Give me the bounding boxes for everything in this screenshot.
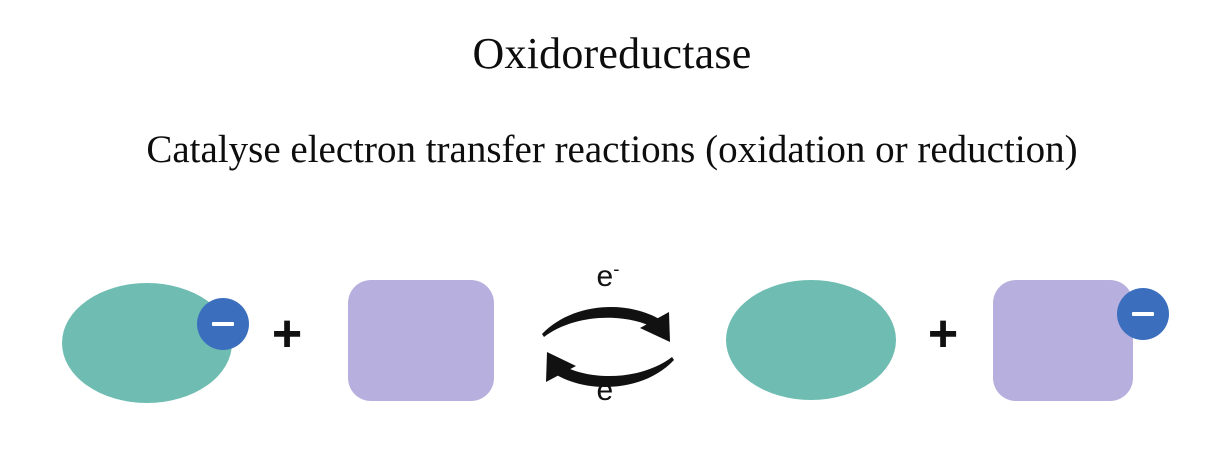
slide-canvas: Oxidoreductase Catalyse electron transfe… (0, 0, 1224, 459)
electron-label-top-charge: - (613, 258, 619, 279)
reaction-diagram: + e- e- + (0, 240, 1224, 430)
electron-label-bottom-base: e (597, 374, 614, 407)
electron-label-top: e- (553, 262, 663, 292)
electron-arrow-top (542, 307, 661, 337)
minus-icon (212, 322, 234, 326)
acceptor-oxidised-shape (348, 280, 494, 401)
page-subtitle: Catalyse electron transfer reactions (ox… (0, 126, 1224, 174)
acceptor-oxidised-group (348, 280, 494, 401)
acceptor-reduced-charge-badge (1117, 288, 1169, 340)
substrate-reduced-charge-badge (197, 298, 249, 350)
electron-transfer-cycle: e- e- (528, 258, 688, 408)
electron-label-bottom-charge: - (613, 372, 619, 393)
substrate-reduced-group (62, 278, 262, 403)
substrate-oxidised-group (726, 280, 896, 400)
acceptor-reduced-shape (993, 280, 1133, 401)
minus-icon (1132, 312, 1154, 316)
electron-label-bottom: e- (553, 376, 663, 406)
substrate-oxidised-shape (726, 280, 896, 400)
plus-left: + (257, 308, 317, 360)
page-title: Oxidoreductase (0, 28, 1224, 80)
electron-label-top-base: e (597, 260, 614, 293)
acceptor-reduced-group (993, 278, 1173, 403)
plus-right: + (913, 308, 973, 360)
